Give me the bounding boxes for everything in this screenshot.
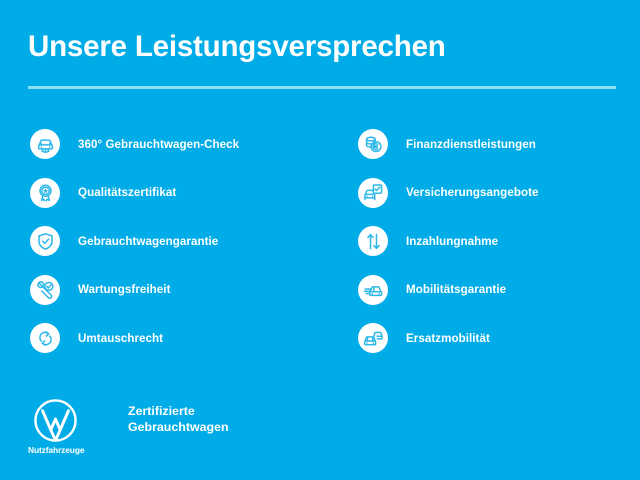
arrows-up-down-icon bbox=[358, 226, 388, 256]
car-inspection-icon bbox=[30, 129, 60, 159]
car-clipboard-icon bbox=[358, 178, 388, 208]
title-divider bbox=[28, 86, 616, 89]
coins-euro-icon bbox=[358, 129, 388, 159]
promise-item: Wartungsfreiheit bbox=[30, 266, 320, 315]
promise-label: Umtauschrecht bbox=[78, 332, 163, 345]
wrench-check-icon bbox=[30, 275, 60, 305]
promise-item: Finanzdienstleistungen bbox=[358, 120, 640, 169]
brand-block: Nutzfahrzeuge bbox=[28, 398, 98, 455]
promise-label: Versicherungsangebote bbox=[406, 186, 539, 199]
promise-item: Mobilitätsgarantie bbox=[358, 266, 640, 315]
promises-column-left: 360° Gebrauchtwagen-Check Qualitätszerti… bbox=[30, 120, 320, 363]
promise-label: Inzahlungnahme bbox=[406, 235, 498, 248]
promise-item: Versicherungsangebote bbox=[358, 169, 640, 218]
two-cars-icon bbox=[358, 323, 388, 353]
promise-label: Mobilitätsgarantie bbox=[406, 283, 506, 296]
volkswagen-vw-logo-icon bbox=[33, 398, 78, 443]
promise-label: 360° Gebrauchtwagen-Check bbox=[78, 138, 239, 151]
exchange-arrows-icon bbox=[30, 323, 60, 353]
footer-caption-line1: Zertifizierte bbox=[128, 404, 229, 420]
promise-item: 360° Gebrauchtwagen-Check bbox=[30, 120, 320, 169]
slide-root: Unsere Leistungsversprechen 360° Ge bbox=[0, 0, 640, 480]
promise-item: Ersatzmobilität bbox=[358, 314, 640, 363]
promise-label: Finanzdienstleistungen bbox=[406, 138, 536, 151]
promise-label: Qualitätszertifikat bbox=[78, 186, 176, 199]
promise-label: Ersatzmobilität bbox=[406, 332, 490, 345]
promise-item: Umtauschrecht bbox=[30, 314, 320, 363]
brand-subtitle: Nutzfahrzeuge bbox=[28, 445, 98, 455]
promise-label: Wartungsfreiheit bbox=[78, 283, 170, 296]
footer-caption: Zertifizierte Gebrauchtwagen bbox=[128, 404, 229, 436]
promise-item: Gebrauchtwagengarantie bbox=[30, 217, 320, 266]
footer-caption-line2: Gebrauchtwagen bbox=[128, 420, 229, 436]
promises-column-right: Finanzdienstleistungen Versicherungsange… bbox=[358, 120, 640, 363]
van-motion-icon bbox=[358, 275, 388, 305]
promise-item: Inzahlungnahme bbox=[358, 217, 640, 266]
footer: Nutzfahrzeuge Zertifizierte Gebrauchtwag… bbox=[28, 398, 229, 455]
page-title: Unsere Leistungsversprechen bbox=[28, 30, 446, 64]
award-rosette-icon bbox=[30, 178, 60, 208]
shield-check-icon bbox=[30, 226, 60, 256]
promise-label: Gebrauchtwagengarantie bbox=[78, 235, 218, 248]
promise-item: Qualitätszertifikat bbox=[30, 169, 320, 218]
